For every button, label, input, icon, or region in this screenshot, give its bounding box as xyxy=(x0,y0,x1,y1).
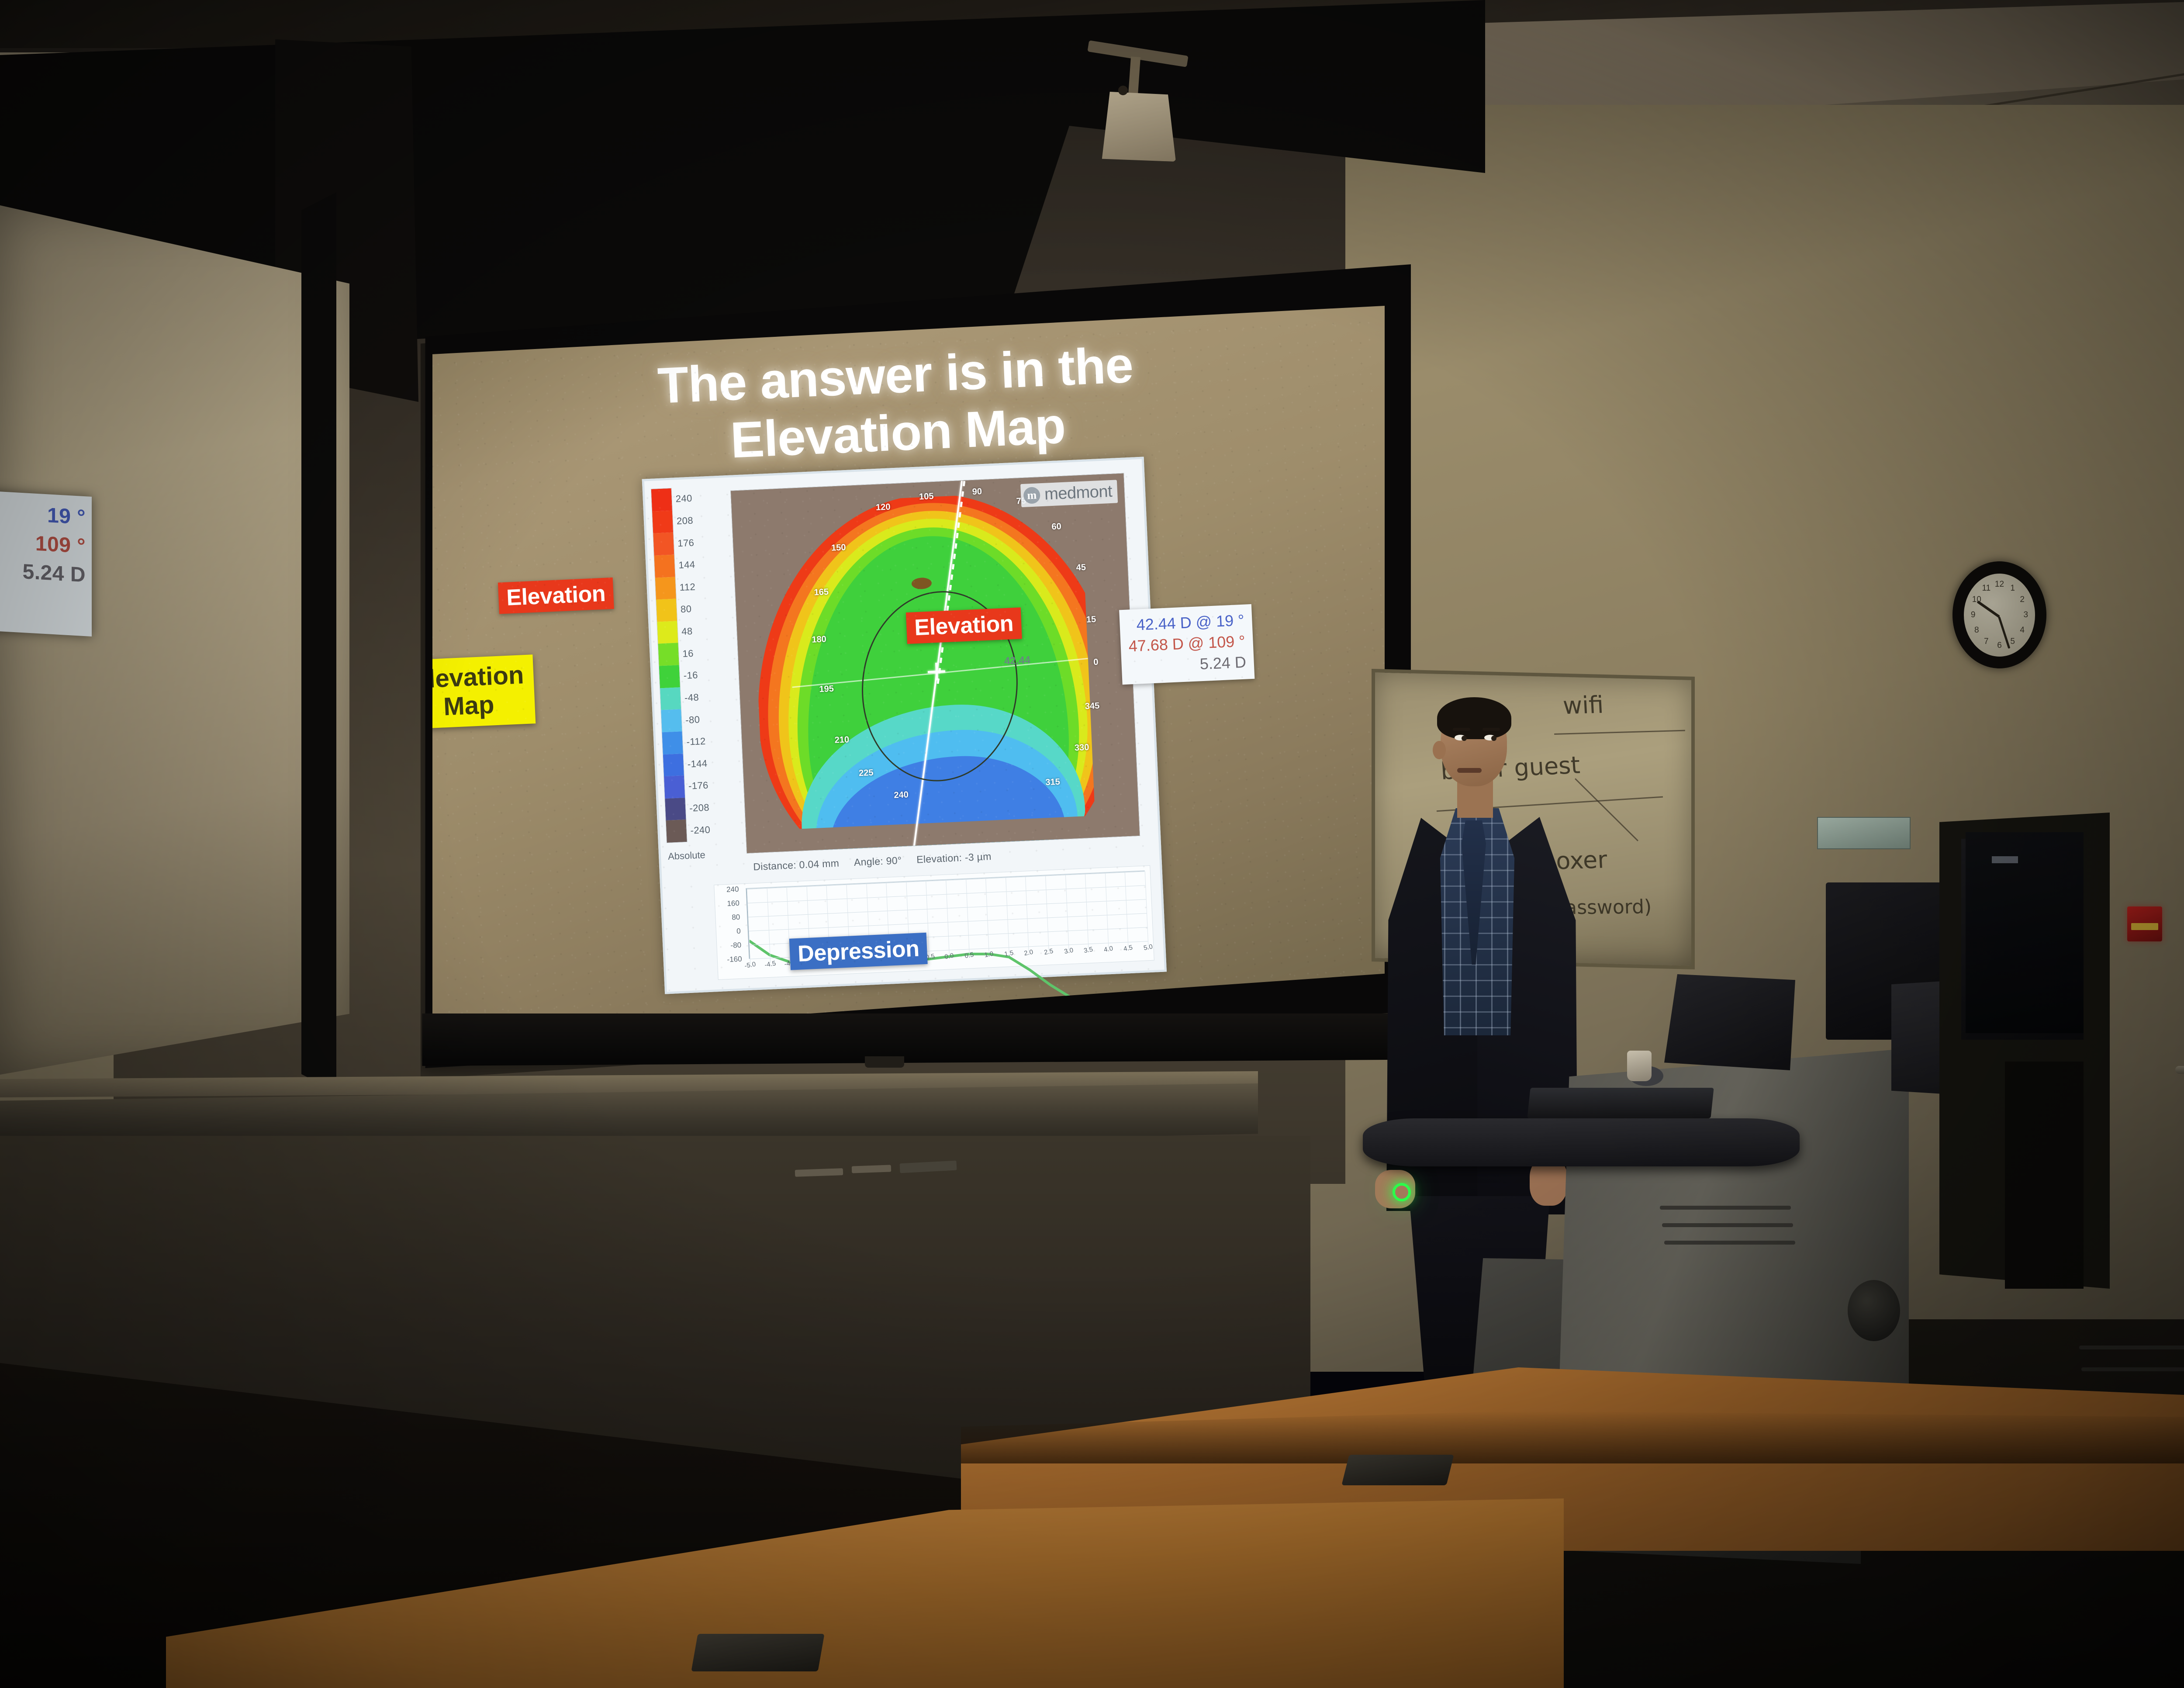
color-scale-tick: 208 xyxy=(676,515,693,527)
color-scale-segment xyxy=(657,621,678,644)
color-scale-segment xyxy=(665,798,686,821)
profile-y-tick: 160 xyxy=(727,899,740,908)
door-panel xyxy=(2005,1062,2084,1289)
wall-plaque xyxy=(1817,817,1911,849)
meridian-label-330: 330 xyxy=(1075,743,1089,753)
secondary-steep-axis: 109 ° xyxy=(0,527,86,561)
presenter-ear xyxy=(1433,741,1446,759)
color-scale-segment xyxy=(656,599,677,622)
meridian-label-90: 90 xyxy=(972,487,982,497)
color-scale-tick: -208 xyxy=(689,802,710,814)
lecture-hall-photo: 19 ° 109 ° 5.24 D The answer is in the E… xyxy=(0,0,2184,1688)
presenter-pupil xyxy=(1491,736,1496,741)
secondary-flat-axis: 19 ° xyxy=(0,498,86,533)
callout-elevation-map: Elevation Map xyxy=(432,654,536,729)
clock-numeral: 4 xyxy=(2020,626,2025,635)
color-scale-tick: 80 xyxy=(680,603,691,615)
presenter-mouth xyxy=(1457,768,1482,773)
callout-depression: Depression xyxy=(789,933,928,970)
table-cable-plate[interactable] xyxy=(1341,1455,1454,1485)
secondary-projection-readout: 19 ° 109 ° 5.24 D xyxy=(0,491,92,636)
wall-rail xyxy=(2175,1066,2184,1074)
meridian-label-105: 105 xyxy=(919,491,934,502)
meridian-label-60: 60 xyxy=(1051,522,1061,532)
cart-vent xyxy=(1662,1223,1793,1227)
color-scale-segment xyxy=(661,709,682,733)
presenter-brow xyxy=(1453,728,1470,731)
color-scale-segment xyxy=(660,687,681,710)
door-window-reflection xyxy=(1992,856,2018,863)
table-cable-plate[interactable] xyxy=(691,1634,824,1671)
meridian-label-345: 345 xyxy=(1085,701,1099,712)
color-scale-segment xyxy=(655,577,676,600)
clock-numeral: 3 xyxy=(2024,610,2028,620)
profile-y-tick: 80 xyxy=(732,913,740,922)
meridian-label-45: 45 xyxy=(1076,563,1086,573)
color-scale-tick: -176 xyxy=(688,780,708,792)
clock-numeral: 2 xyxy=(2020,595,2025,605)
status-distance: Distance: 0.04 mm xyxy=(753,858,840,873)
meridian-label-210: 210 xyxy=(834,735,849,745)
main-projection-screen: The answer is in the Elevation Map 24020… xyxy=(432,306,1385,1040)
callout-elevation-map-line-1: Elevation xyxy=(432,661,525,694)
cart-vent xyxy=(2081,1367,2184,1371)
presenter-pupil xyxy=(1462,736,1467,741)
color-scale-segment xyxy=(658,643,679,666)
profile-y-tick: -160 xyxy=(727,955,742,964)
meridian-label-150: 150 xyxy=(831,543,846,553)
medmont-map-area: 240208176144112804816-16-48-80-112-144-1… xyxy=(644,459,1164,874)
clock-numeral: 12 xyxy=(1995,580,2004,589)
meridian-label-165: 165 xyxy=(814,587,829,598)
center-crosshair xyxy=(927,662,946,681)
cart-vent xyxy=(1664,1241,1795,1245)
clock-numeral: 6 xyxy=(1997,641,2002,650)
color-scale-tick: -48 xyxy=(684,692,699,703)
presenter-brow xyxy=(1482,728,1500,731)
laptop[interactable] xyxy=(1664,974,1795,1070)
wall-clock: 121234567891011 xyxy=(1952,561,2046,668)
color-scale-tick: -16 xyxy=(683,670,698,681)
clock-numeral: 10 xyxy=(1972,595,1981,605)
medmont-logo-text: medmont xyxy=(1044,482,1113,504)
color-scale-tick: -112 xyxy=(686,736,706,748)
track-light-head xyxy=(1097,92,1176,162)
slide-title: The answer is in the Elevation Map xyxy=(432,325,1375,483)
callout-elevation-left: Elevation xyxy=(498,578,614,614)
status-angle: Angle: 90° xyxy=(854,854,902,868)
color-scale-segment xyxy=(662,731,683,754)
profile-x-tick: 5.0 xyxy=(1143,943,1154,952)
elevation-color-scale: 240208176144112804816-16-48-80-112-144-1… xyxy=(650,483,742,866)
color-scale-segment xyxy=(653,533,674,556)
elevation-profile-chart: 240160800-80-160-5.0-4.5-4.0-3.5-3.0-2.5… xyxy=(714,865,1154,980)
meridian-label-180: 180 xyxy=(812,634,826,645)
door-window xyxy=(1966,832,2084,1033)
color-scale-tick: 144 xyxy=(678,559,695,571)
profile-y-tick: 0 xyxy=(736,927,741,936)
color-scale-segment xyxy=(659,665,680,688)
meridian-label-240: 240 xyxy=(894,790,909,800)
projected-slide: The answer is in the Elevation Map 24020… xyxy=(432,306,1385,1040)
color-scale-tick: 16 xyxy=(682,648,694,660)
podium-desktop xyxy=(1363,1118,1800,1166)
color-scale-tick: 112 xyxy=(679,581,695,593)
meridian-label-315: 315 xyxy=(1045,777,1060,788)
meridian-label-225: 225 xyxy=(859,768,874,778)
clock-numeral: 11 xyxy=(1982,584,1990,593)
screen-pull-tab xyxy=(865,1056,904,1068)
callout-elevation-map-line-2: Map xyxy=(432,689,526,723)
clock-numeral: 7 xyxy=(1984,637,1989,647)
clock-numeral: 1 xyxy=(2010,584,2015,593)
cart-knob[interactable] xyxy=(1848,1280,1900,1341)
keyboard[interactable] xyxy=(1527,1088,1714,1118)
marker-pen[interactable] xyxy=(852,1165,892,1173)
color-scale-segment xyxy=(664,775,685,799)
whiteboard-arrow xyxy=(1575,778,1638,841)
left-projection-board xyxy=(0,205,349,1075)
corneal-elevation-heatmap: 105 90 75 120 60 150 45 165 15 180 0 195… xyxy=(730,473,1140,854)
callout-elevation-right: Elevation xyxy=(906,607,1022,644)
map-center-k-label: 42.44 xyxy=(1004,654,1030,668)
meridian-label-0: 0 xyxy=(1093,657,1099,668)
clock-numeral: 8 xyxy=(1974,626,1979,635)
color-scale-tick: -80 xyxy=(685,714,700,726)
cup xyxy=(1627,1051,1652,1081)
presentation-clicker-led[interactable] xyxy=(1393,1183,1411,1201)
meridian-label-15: 15 xyxy=(1086,615,1096,625)
cart-vent xyxy=(2079,1346,2184,1349)
clock-face: 121234567891011 xyxy=(1964,574,2035,657)
meridian-label-195: 195 xyxy=(819,684,834,695)
medmont-logo-mark-icon: m xyxy=(1023,487,1040,504)
color-scale-segment xyxy=(652,510,673,533)
color-scale-label: Absolute xyxy=(668,849,706,862)
clock-numeral: 5 xyxy=(2010,637,2015,647)
color-scale-segment xyxy=(654,554,675,578)
k-readings-box: 42.44 D @ 19 ° 47.68 D @ 109 ° 5.24 D xyxy=(1119,604,1254,685)
screen-bottom-casing xyxy=(417,1013,1413,1066)
color-scale-tick: -240 xyxy=(690,824,711,836)
presenter-hair xyxy=(1437,697,1511,739)
color-scale-tick: 48 xyxy=(681,626,693,637)
color-scale-tick: -144 xyxy=(687,758,708,770)
color-scale-tick: 240 xyxy=(675,493,692,505)
color-scale-segment xyxy=(663,754,684,777)
medmont-software-window: 240208176144112804816-16-48-80-112-144-1… xyxy=(642,457,1167,994)
status-elevation: Elevation: -3 µm xyxy=(916,851,992,866)
track-light-mount xyxy=(1118,86,1128,95)
profile-y-tick: -80 xyxy=(730,941,741,950)
secondary-cylinder: 5.24 D xyxy=(0,556,86,590)
cart-vent xyxy=(1660,1206,1791,1210)
color-scale-tick: 176 xyxy=(677,537,695,549)
clock-numeral: 9 xyxy=(1971,610,1976,620)
meridian-label-120: 120 xyxy=(876,502,891,512)
color-scale-segment xyxy=(666,820,687,843)
left-board-frame xyxy=(301,192,336,1092)
fire-alarm-pull-station[interactable] xyxy=(2127,906,2162,941)
color-scale-segment xyxy=(651,488,672,512)
medmont-logo: m medmont xyxy=(1020,480,1118,507)
profile-y-tick: 240 xyxy=(726,885,739,894)
